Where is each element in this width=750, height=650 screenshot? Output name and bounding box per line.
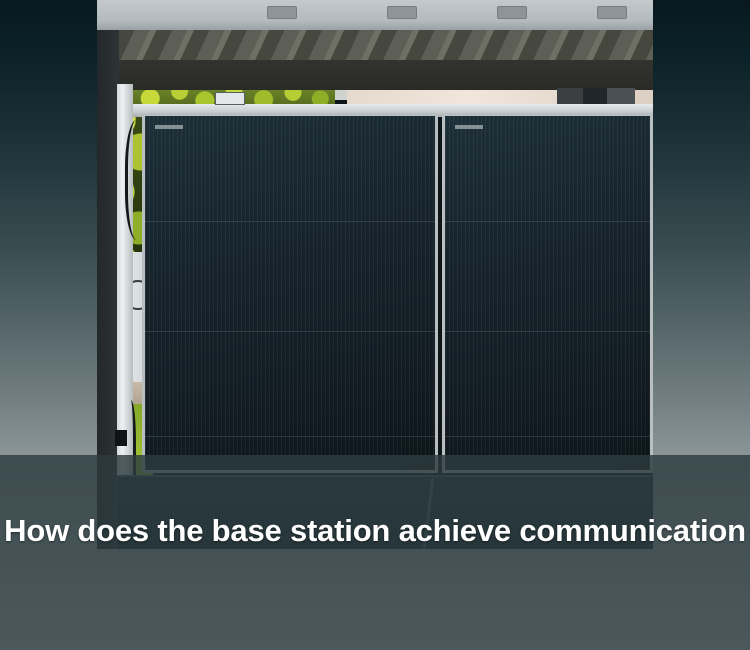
conduit-box bbox=[115, 430, 127, 446]
canopy-beam bbox=[97, 0, 653, 30]
solar-module-right bbox=[442, 113, 653, 473]
canopy-corrugation bbox=[97, 30, 653, 63]
roof-equipment bbox=[557, 88, 635, 104]
solar-module-left bbox=[142, 113, 438, 473]
page-title: How does the base station achieve commun… bbox=[0, 513, 750, 549]
thumbnail-card: Inte bbox=[0, 0, 750, 650]
canopy-bolts bbox=[97, 6, 653, 20]
canopy-shadow bbox=[97, 60, 653, 90]
roof-sensor-box bbox=[215, 92, 245, 105]
caption-overlay bbox=[0, 455, 750, 650]
